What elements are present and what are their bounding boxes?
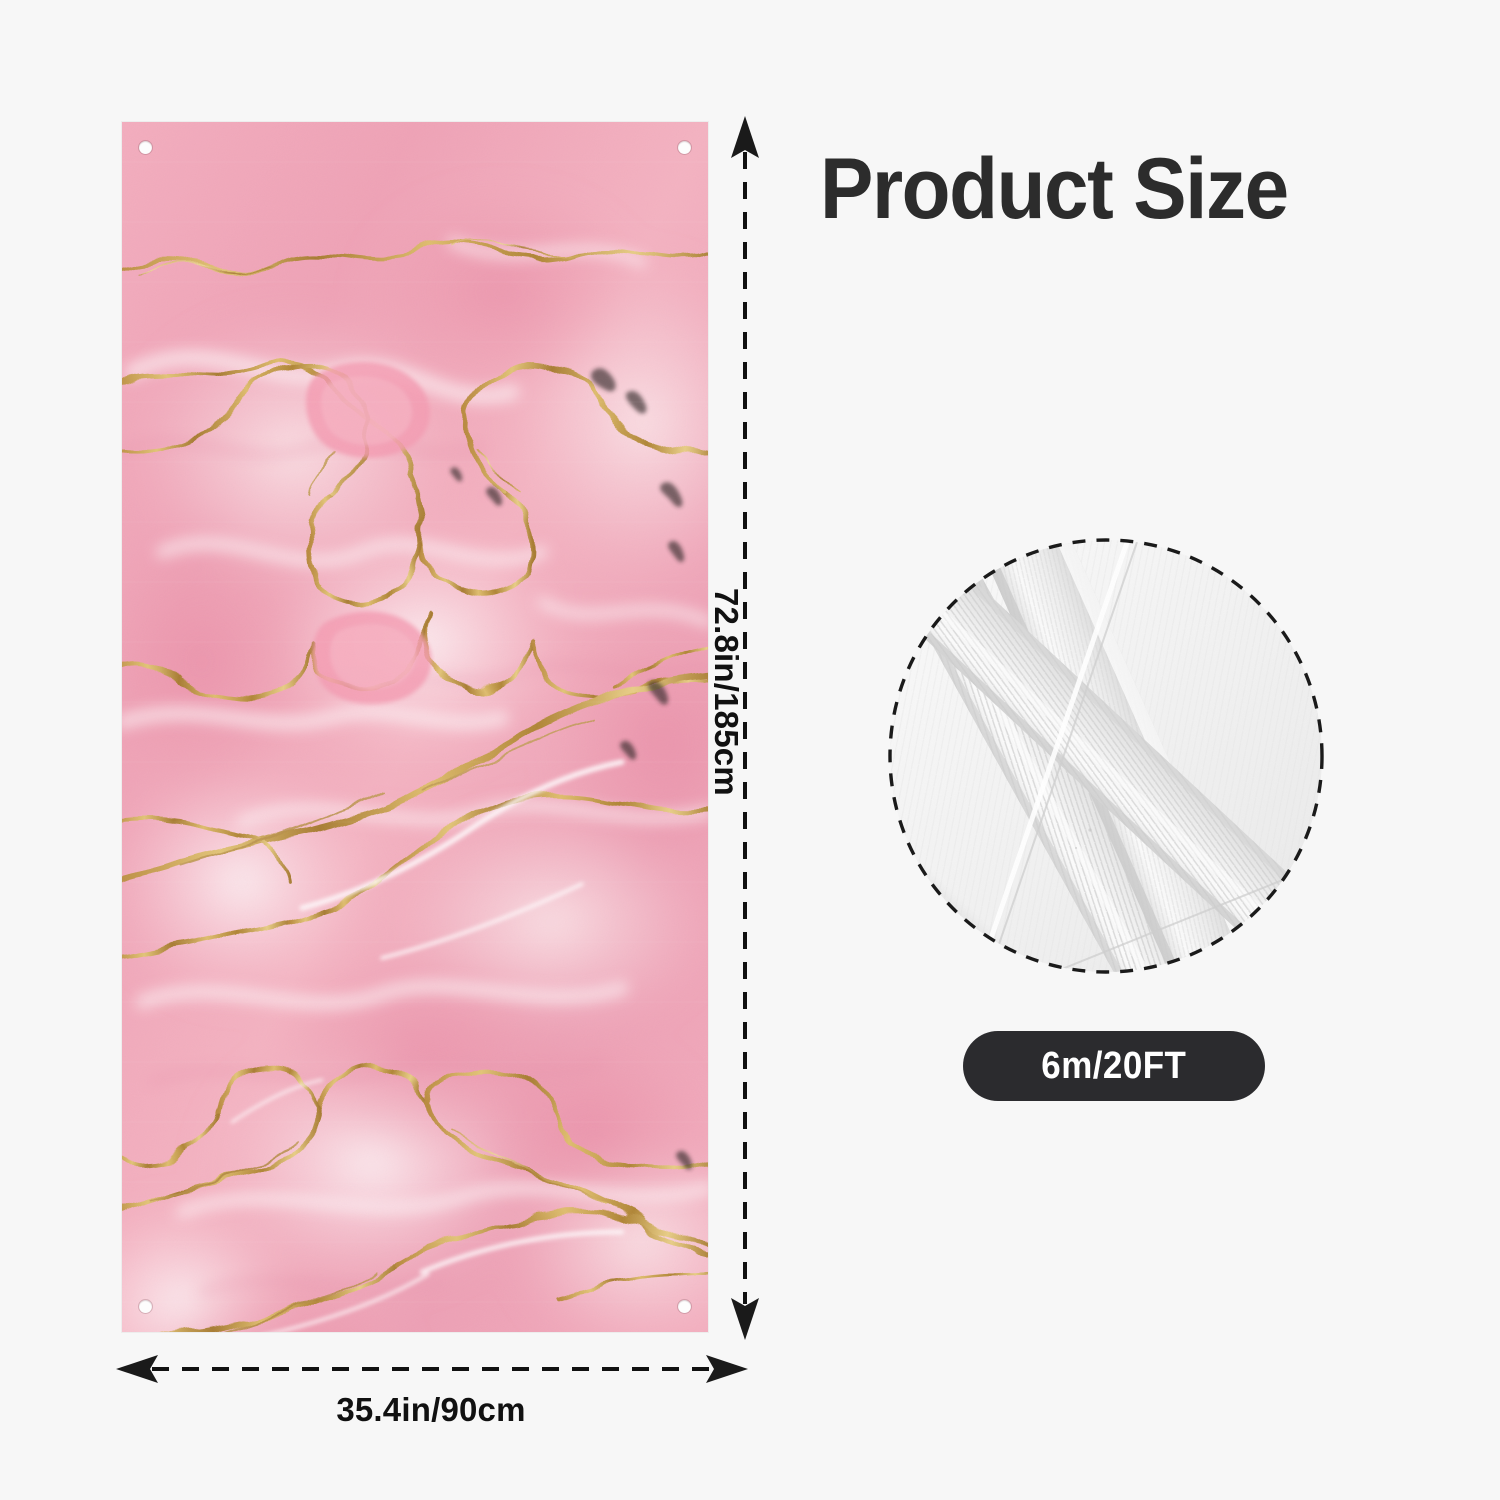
arrow-left-icon xyxy=(116,1355,158,1383)
rope-detail-content xyxy=(880,530,1332,982)
grommet-hole-icon xyxy=(139,141,152,154)
page-title: Product Size xyxy=(820,146,1288,232)
grommet-hole-icon xyxy=(678,1300,691,1313)
product-banner-image xyxy=(122,122,708,1332)
width-dimension-line xyxy=(112,1348,752,1390)
height-dimension-label: 72.8in/185cm xyxy=(707,588,745,796)
rope-detail-closeup xyxy=(880,530,1332,982)
grommet-hole-icon xyxy=(678,141,691,154)
arrow-right-icon xyxy=(706,1355,748,1383)
rope-length-label: 6m/20FT xyxy=(1041,1045,1186,1088)
marble-texture xyxy=(122,122,708,1332)
infographic-canvas: 72.8in/185cm 35.4in/90cm Product Size xyxy=(0,0,1500,1500)
grommet-hole-icon xyxy=(139,1300,152,1313)
rope-length-badge: 6m/20FT xyxy=(963,1031,1265,1101)
width-dimension-label: 35.4in/90cm xyxy=(122,1391,740,1429)
arrow-down-icon xyxy=(731,1298,759,1340)
arrow-up-icon xyxy=(731,116,759,158)
